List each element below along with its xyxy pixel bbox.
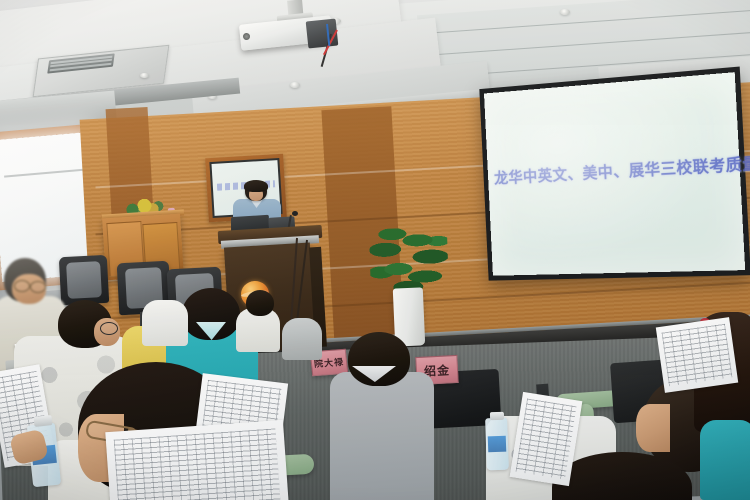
- microphone-icon[interactable]: [292, 211, 298, 216]
- meeting-room-photo: 龙华中英文、美中、展华三校联考质量分析会: [0, 0, 750, 500]
- attendee-face: [636, 404, 670, 452]
- office-chair-mesh: [66, 261, 102, 299]
- attendee-back-row: [282, 318, 322, 360]
- bottle-cap: [34, 415, 53, 427]
- glasses-icon: [14, 280, 30, 292]
- handout-table-grid: [114, 428, 281, 500]
- attendee-back-row-head: [246, 290, 274, 316]
- downlight-icon: [560, 9, 570, 15]
- handout-table-grid: [662, 324, 733, 386]
- presenter-hair: [244, 180, 268, 192]
- glasses-icon: [30, 281, 46, 293]
- attendee-torso: [700, 420, 750, 500]
- glasses-icon: [100, 322, 118, 335]
- bottle-label: [488, 436, 507, 453]
- attendee-white-shirt: [142, 300, 188, 346]
- downlight-icon: [140, 73, 149, 78]
- bottle-cap: [490, 412, 504, 420]
- attendee-torso: [330, 372, 434, 500]
- downlight-icon: [290, 82, 300, 88]
